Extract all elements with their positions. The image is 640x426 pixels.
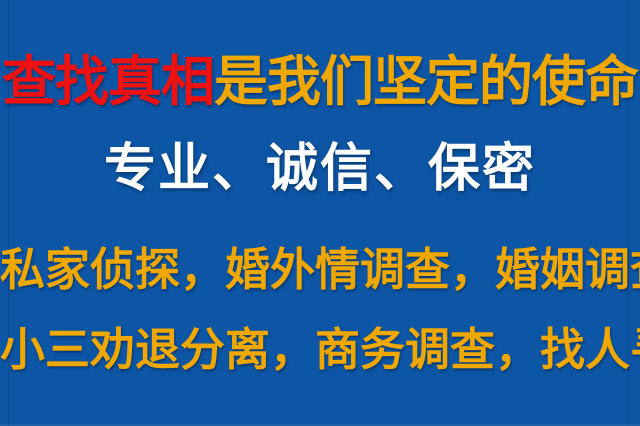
- headline-rest: 是我们坚定的使命: [214, 50, 638, 113]
- tagline: 专业、诚信、保密: [0, 143, 640, 195]
- headline-emphasis: 查找真相: [2, 50, 214, 113]
- services-line-1: 私家侦探，婚外情调查，婚姻调查，: [0, 247, 640, 292]
- headline: 查找真相是我们坚定的使命: [0, 55, 640, 109]
- services-line-2: 小三劝退分离，商务调查，找人寻人: [0, 327, 640, 372]
- advertisement-banner: 查找真相是我们坚定的使命 专业、诚信、保密 私家侦探，婚外情调查，婚姻调查， 小…: [0, 0, 640, 426]
